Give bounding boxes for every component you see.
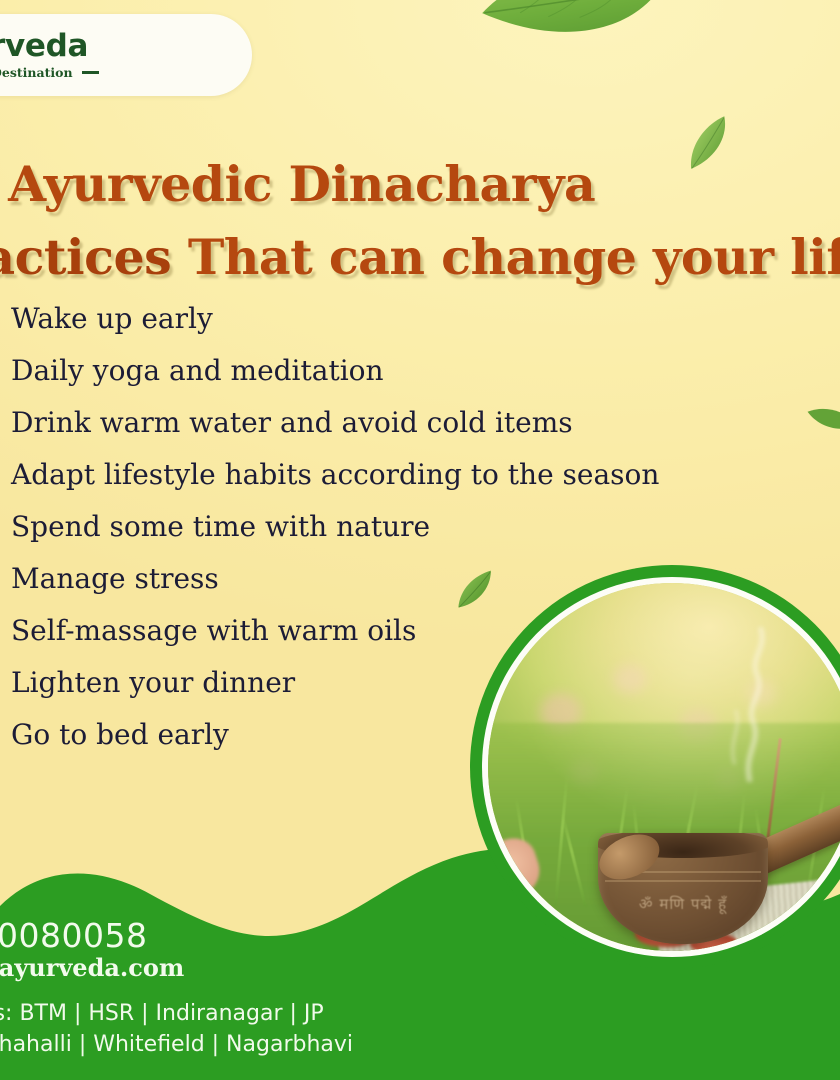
logo-tagline-text: One Stop Ayurveda Destination bbox=[0, 65, 73, 80]
headline: 9 Ayurvedic Dinacharya ractices That can… bbox=[0, 148, 838, 293]
list-item: Adapt lifestyle habits according to the … bbox=[0, 461, 824, 513]
list-item-label: Wake up early bbox=[11, 305, 213, 333]
poster-canvas: eva Ayurveda One Stop Ayurveda Destinati… bbox=[0, 0, 840, 1080]
list-item-label: Drink warm water and avoid cold items bbox=[11, 409, 573, 437]
list-item-label: Adapt lifestyle habits according to the … bbox=[11, 461, 659, 489]
logo-tagline-row: One Stop Ayurveda Destination bbox=[0, 65, 252, 80]
list-item-label: Spend some time with nature bbox=[11, 513, 430, 541]
list-item-label: Self-massage with warm oils bbox=[11, 617, 416, 645]
headline-line-2-text: That can change your life bbox=[188, 228, 840, 286]
headline-accent-word: ractices bbox=[0, 228, 171, 286]
photo-image-singing-bowl: ॐ मणि पद्मे हूँ bbox=[488, 583, 840, 951]
list-item: Daily yoga and meditation bbox=[0, 357, 824, 409]
photo-light-overlay bbox=[488, 583, 840, 951]
logo-brand-name: eva Ayurveda bbox=[0, 30, 252, 63]
logo: eva Ayurveda One Stop Ayurveda Destinati… bbox=[0, 14, 252, 96]
footer-branches-line-1: ches: BTM | HSR | Indiranagar | JP bbox=[0, 998, 654, 1029]
logo-dash-icon bbox=[82, 71, 99, 74]
footer-branches: ches: BTM | HSR | Indiranagar | JP arath… bbox=[0, 998, 654, 1060]
circular-photo: ॐ मणि पद्मे हूँ bbox=[470, 565, 840, 969]
logo-pill: eva Ayurveda One Stop Ayurveda Destinati… bbox=[0, 14, 252, 96]
list-item: Drink warm water and avoid cold items bbox=[0, 409, 824, 461]
list-item: Spend some time with nature bbox=[0, 513, 824, 565]
list-item-label: Daily yoga and meditation bbox=[11, 357, 384, 385]
list-item-label: Manage stress bbox=[11, 565, 219, 593]
headline-line-2: ractices That can change your life bbox=[0, 221, 838, 294]
list-item-label: Lighten your dinner bbox=[11, 669, 295, 697]
footer-branches-line-2: arathahalli | Whitefield | Nagarbhavi bbox=[0, 1029, 654, 1060]
headline-line-1: 9 Ayurvedic Dinacharya bbox=[0, 148, 838, 221]
headline-line-1-text: Ayurvedic Dinacharya bbox=[8, 155, 595, 213]
list-item: Wake up early bbox=[0, 305, 824, 357]
list-item-label: Go to bed early bbox=[11, 721, 229, 749]
